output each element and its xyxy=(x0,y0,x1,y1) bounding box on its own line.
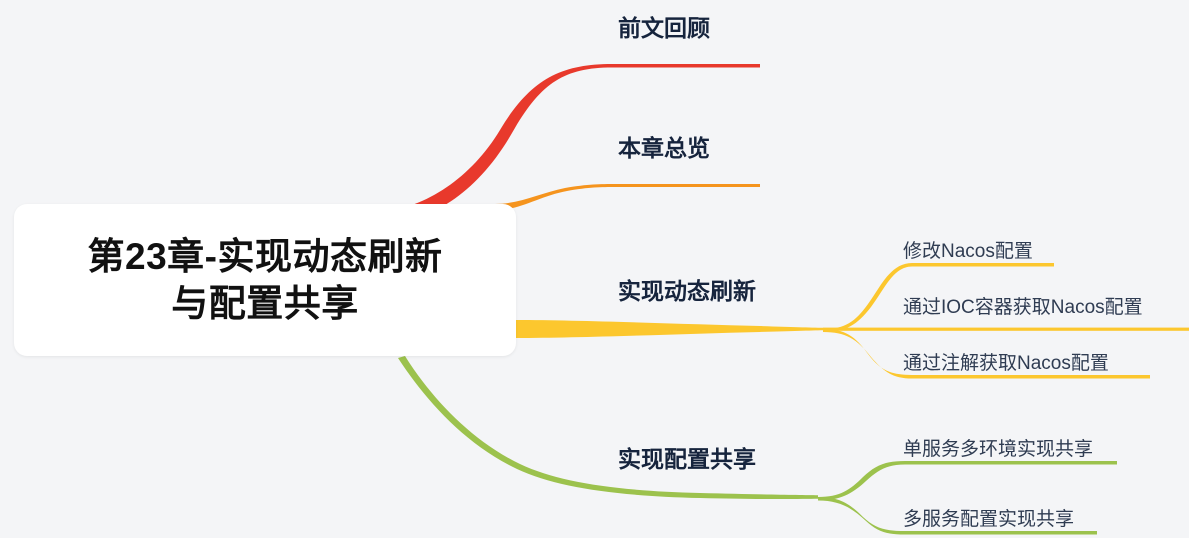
subtopic-ioc-nacos-config-label: 通过IOC容器获取Nacos配置 xyxy=(903,297,1143,318)
topic-review-label: 前文回顾 xyxy=(618,15,710,41)
branch-path-overview xyxy=(495,184,760,210)
subbranch-path-ioc-nacos-config xyxy=(823,328,1189,331)
topic-review[interactable]: 前文回顾 xyxy=(618,17,710,40)
subtopic-annotation-nacos-config[interactable]: 通过注解获取Nacos配置 xyxy=(903,354,1109,373)
branch-path-config-sharing xyxy=(398,356,818,499)
subtopic-modify-nacos-config-label: 修改Nacos配置 xyxy=(903,241,1033,262)
subtopic-single-service-multi-env[interactable]: 单服务多环境实现共享 xyxy=(903,440,1093,459)
branch-path-dynamic-refresh xyxy=(516,320,823,338)
subtopic-multi-service-config-label: 多服务配置实现共享 xyxy=(903,509,1074,530)
topic-overview-label: 本章总览 xyxy=(618,135,710,161)
topic-config-sharing-label: 实现配置共享 xyxy=(618,446,756,472)
topic-dynamic-refresh-label: 实现动态刷新 xyxy=(618,278,756,304)
topic-dynamic-refresh[interactable]: 实现动态刷新 xyxy=(618,280,756,303)
root-node-title: 第23章-实现动态刷新 与配置共享 xyxy=(88,233,443,328)
subtopic-annotation-nacos-config-label: 通过注解获取Nacos配置 xyxy=(903,353,1109,374)
subtopic-single-service-multi-env-label: 单服务多环境实现共享 xyxy=(903,439,1093,460)
topic-overview[interactable]: 本章总览 xyxy=(618,137,710,160)
subtopic-modify-nacos-config[interactable]: 修改Nacos配置 xyxy=(903,242,1033,261)
root-node[interactable]: 第23章-实现动态刷新 与配置共享 xyxy=(14,204,516,356)
mindmap-canvas: 第23章-实现动态刷新 与配置共享 前文回顾 本章总览 实现动态刷新 实现配置共… xyxy=(0,0,1189,538)
topic-config-sharing[interactable]: 实现配置共享 xyxy=(618,448,756,471)
subtopic-ioc-nacos-config[interactable]: 通过IOC容器获取Nacos配置 xyxy=(903,298,1143,317)
subbranch-path-single-service-multi-env xyxy=(818,461,1117,501)
subtopic-multi-service-config[interactable]: 多服务配置实现共享 xyxy=(903,510,1074,529)
